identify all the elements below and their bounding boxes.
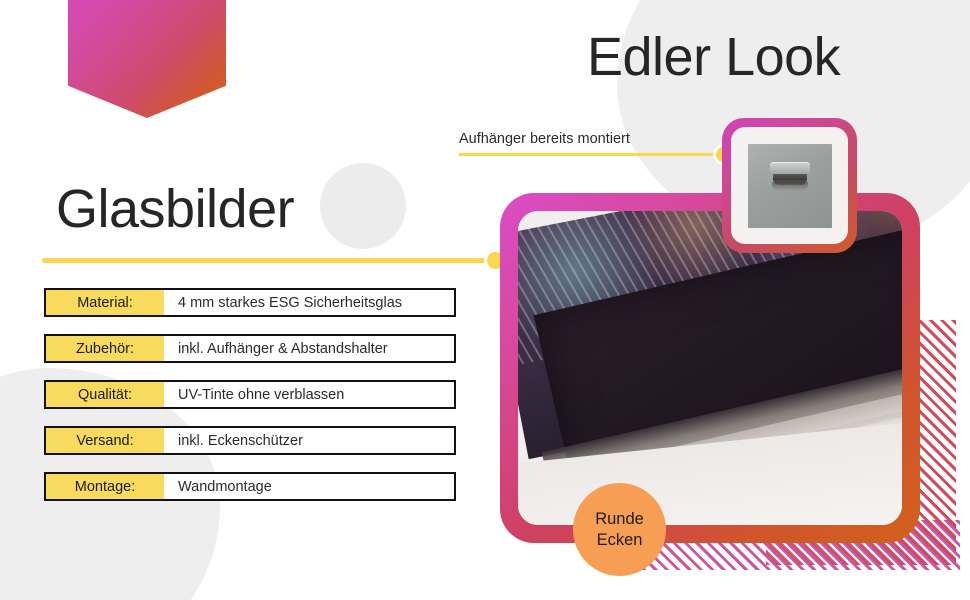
spec-value: 4 mm starkes ESG Sicherheitsglas [164,290,454,315]
hanger-callout-line [459,153,725,156]
title-divider-line [42,258,497,263]
spec-table: Material: 4 mm starkes ESG Sicherheitsgl… [44,288,456,518]
page-title: Glasbilder [56,178,294,240]
hanger-inset-inner [731,127,848,244]
badge-line-2: Ecken [597,530,643,550]
hanger-callout-label: Aufhänger bereits montiert [459,131,630,147]
rounded-corners-badge: Runde Ecken [573,483,666,576]
spec-key: Qualität: [46,382,164,407]
spec-value: inkl. Eckenschützer [164,428,454,453]
shield-badge-icon [68,0,226,118]
spec-key: Montage: [46,474,164,499]
spec-value: UV-Tinte ohne verblassen [164,382,454,407]
poster-canvas: Edler Look Glasbilder Material: 4 mm sta… [0,0,970,600]
hanger-shadow [772,182,808,191]
background-circle-behind-title [320,163,406,249]
table-row: Zubehör: inkl. Aufhänger & Abstandshalte… [44,334,456,363]
right-title: Edler Look [587,26,840,88]
spec-value: Wandmontage [164,474,454,499]
product-photo-frame [500,193,920,543]
spec-key: Versand: [46,428,164,453]
spec-key: Zubehör: [46,336,164,361]
table-row: Material: 4 mm starkes ESG Sicherheitsgl… [44,288,456,317]
hanger-inset-frame [722,118,857,253]
product-photo [518,211,902,525]
badge-line-1: Runde [595,509,644,529]
table-row: Qualität: UV-Tinte ohne verblassen [44,380,456,409]
spec-key: Material: [46,290,164,315]
table-row: Montage: Wandmontage [44,472,456,501]
hanger-photo [748,144,832,228]
table-row: Versand: inkl. Eckenschützer [44,426,456,455]
spec-value: inkl. Aufhänger & Abstandshalter [164,336,454,361]
